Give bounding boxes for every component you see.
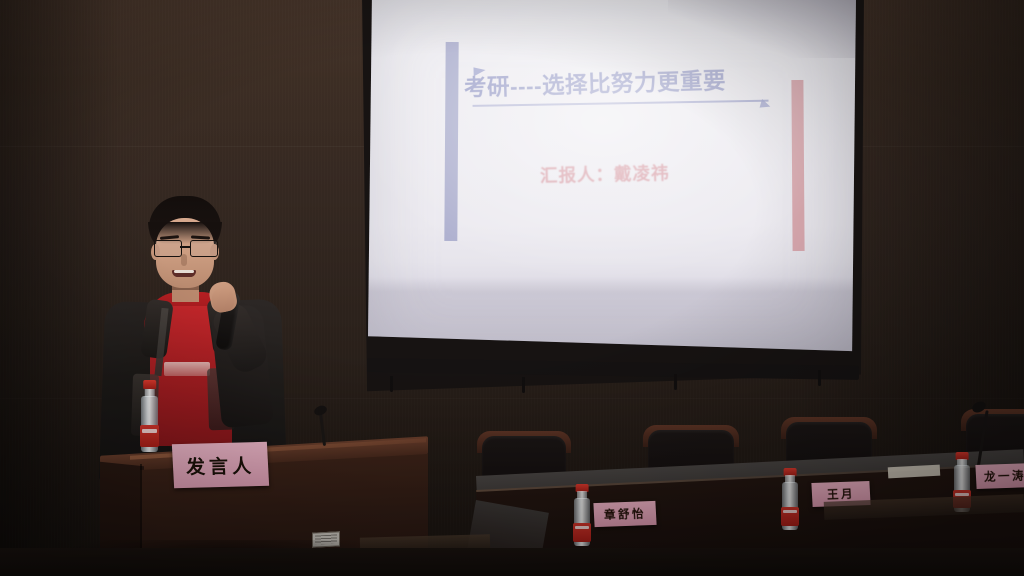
- lecture-hall-photo: 考研----选择比努力更重要 汇报人：戴凌祎: [0, 0, 1024, 576]
- photo-vignette: [0, 0, 1024, 576]
